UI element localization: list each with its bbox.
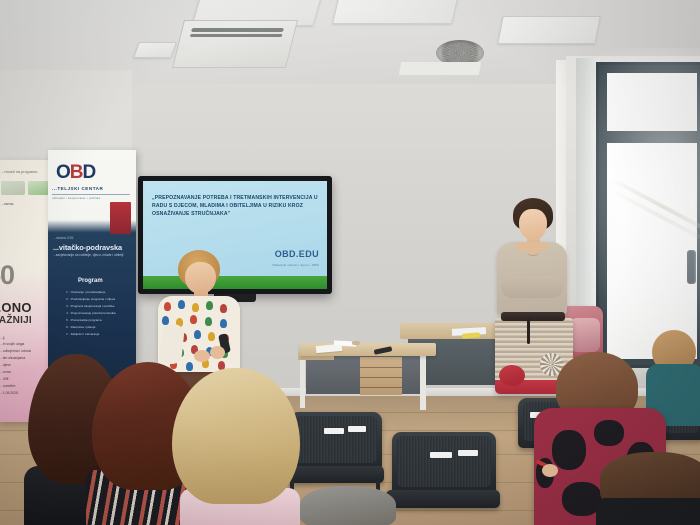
ceiling-ac-cassette (172, 20, 298, 68)
skirt-applique-red-circle (499, 365, 525, 386)
slide-logo: OBD.EDU Obiteljski odnosi i djeca • OBD (272, 244, 319, 267)
ceiling-light-panel-4 (133, 42, 177, 58)
banner-cream-headline-2: ...AŽNIJI (0, 315, 32, 326)
program-item-number: 3. (66, 304, 69, 308)
window-handle[interactable] (687, 250, 696, 284)
program-item: 5.Prezentacija programa (66, 318, 132, 322)
program-item-text: Prezentacija programa (71, 318, 102, 322)
desk-leg-left (300, 356, 305, 408)
program-item: 2.Predstavljanje programa i ciljeva (66, 297, 132, 301)
program-item: 7.Zaključci i zatvaranje (66, 332, 132, 336)
banner-cream-body-0: ...lj (0, 336, 54, 341)
program-item-number: 1. (66, 290, 69, 294)
skirt-drawstring (527, 318, 530, 344)
banner-cream-kicker: ...rtnosti na programu: (1, 170, 38, 174)
program-item-text: Prepoznavanje potreba korisnika (71, 311, 116, 315)
desk-leg-right (420, 356, 426, 410)
slide-title: „PREPOZNAVANJE POTREBA I TRETMANSKIH INT… (152, 194, 319, 219)
slide-logo-mark: OBD.EDU (275, 249, 319, 259)
program-item: 6.Rasprava i pitanja (66, 325, 132, 329)
program-item-number: 6. (66, 325, 69, 329)
drawer-unit (360, 357, 402, 395)
program-item-text: Otvaranje i predstavljanje (71, 290, 106, 294)
chair-inventory-label (324, 428, 344, 434)
banner-blue-description: ...savjetovanje za roditelje, djecu, mla… (53, 253, 133, 258)
slide-logo-subtitle: Obiteljski odnosi i djeca • OBD (272, 263, 319, 267)
program-item: 1.Otvaranje i predstavljanje (66, 290, 132, 294)
program-item-text: Zaključci i zatvaranje (71, 332, 100, 336)
waist-belt (501, 312, 565, 321)
banner-blue-headline: ...vitačko-podravska (53, 243, 122, 252)
left-hand (194, 350, 210, 362)
torso (596, 498, 700, 525)
banner-cream-body-1: ...ih svojih uloga (0, 342, 54, 347)
chair-back[interactable] (392, 432, 496, 494)
chair-back[interactable] (290, 412, 382, 470)
banner-blue-rule (52, 194, 130, 195)
ceiling-light-panel-5 (399, 62, 481, 75)
program-item-number: 2. (66, 297, 69, 301)
partner-logo-coat-of-arms (1, 181, 25, 195)
hair (172, 368, 300, 504)
desk-small-object (352, 341, 360, 345)
program-item-number: 5. (66, 318, 69, 322)
obd-logo-subtitle: ...TELJSKI CENTAR (52, 186, 103, 191)
chair-inventory-label (430, 452, 452, 458)
window-transom-pane (607, 73, 697, 131)
banner-blue-red-badge (110, 202, 131, 234)
program-item: 3.Programi savjetovanja i podrške (66, 304, 132, 308)
program-item-text: Rasprava i pitanja (71, 325, 96, 329)
obd-logo-tiny-text: obiteljski • savjetovanje • podrška (52, 196, 100, 200)
necklace (527, 248, 539, 256)
chair-inventory-label (458, 450, 478, 456)
ceiling-light-panel-3 (497, 16, 600, 44)
banner-cream-line-rama: ...rama: (1, 202, 14, 206)
hand (542, 464, 558, 477)
program-item: 4.Prepoznavanje potreba korisnika (66, 311, 132, 315)
person-audience-blonde-hair (172, 368, 300, 525)
conference-room-photo: „PREPOZNAVANJE POTREBA I TRETMANSKIH INT… (0, 0, 700, 525)
person-audience-back-row (600, 452, 700, 525)
ceiling-light-panel-2 (332, 0, 460, 24)
person-audience-foreground (300, 486, 396, 525)
program-item-text: Predstavljanje programa i ciljeva (71, 297, 116, 301)
banner-blue-program-heading: Program (78, 278, 103, 284)
chair-seat[interactable] (386, 490, 500, 508)
program-item-number: 7. (66, 332, 69, 336)
hair (300, 486, 396, 525)
crossed-arms (501, 276, 563, 298)
chair-inventory-label (348, 426, 366, 432)
window-main-pane (607, 143, 697, 359)
right-hand (210, 346, 225, 359)
banner-cream-numeral: 50 (0, 260, 14, 291)
banner-blue-program-list: 1.Otvaranje i predstavljanje 2.Predstavl… (66, 290, 132, 339)
program-item-text: Programi savjetovanja i podrške (71, 304, 115, 308)
banner-blue-kicker: ...ravska 2/26 (53, 236, 73, 240)
banner-cream-headline-1: ...ONO (0, 300, 32, 315)
window (596, 62, 700, 368)
banner-cream-logos (1, 178, 51, 198)
obd-logo: OBD (56, 162, 95, 184)
program-item-number: 4. (66, 311, 69, 315)
